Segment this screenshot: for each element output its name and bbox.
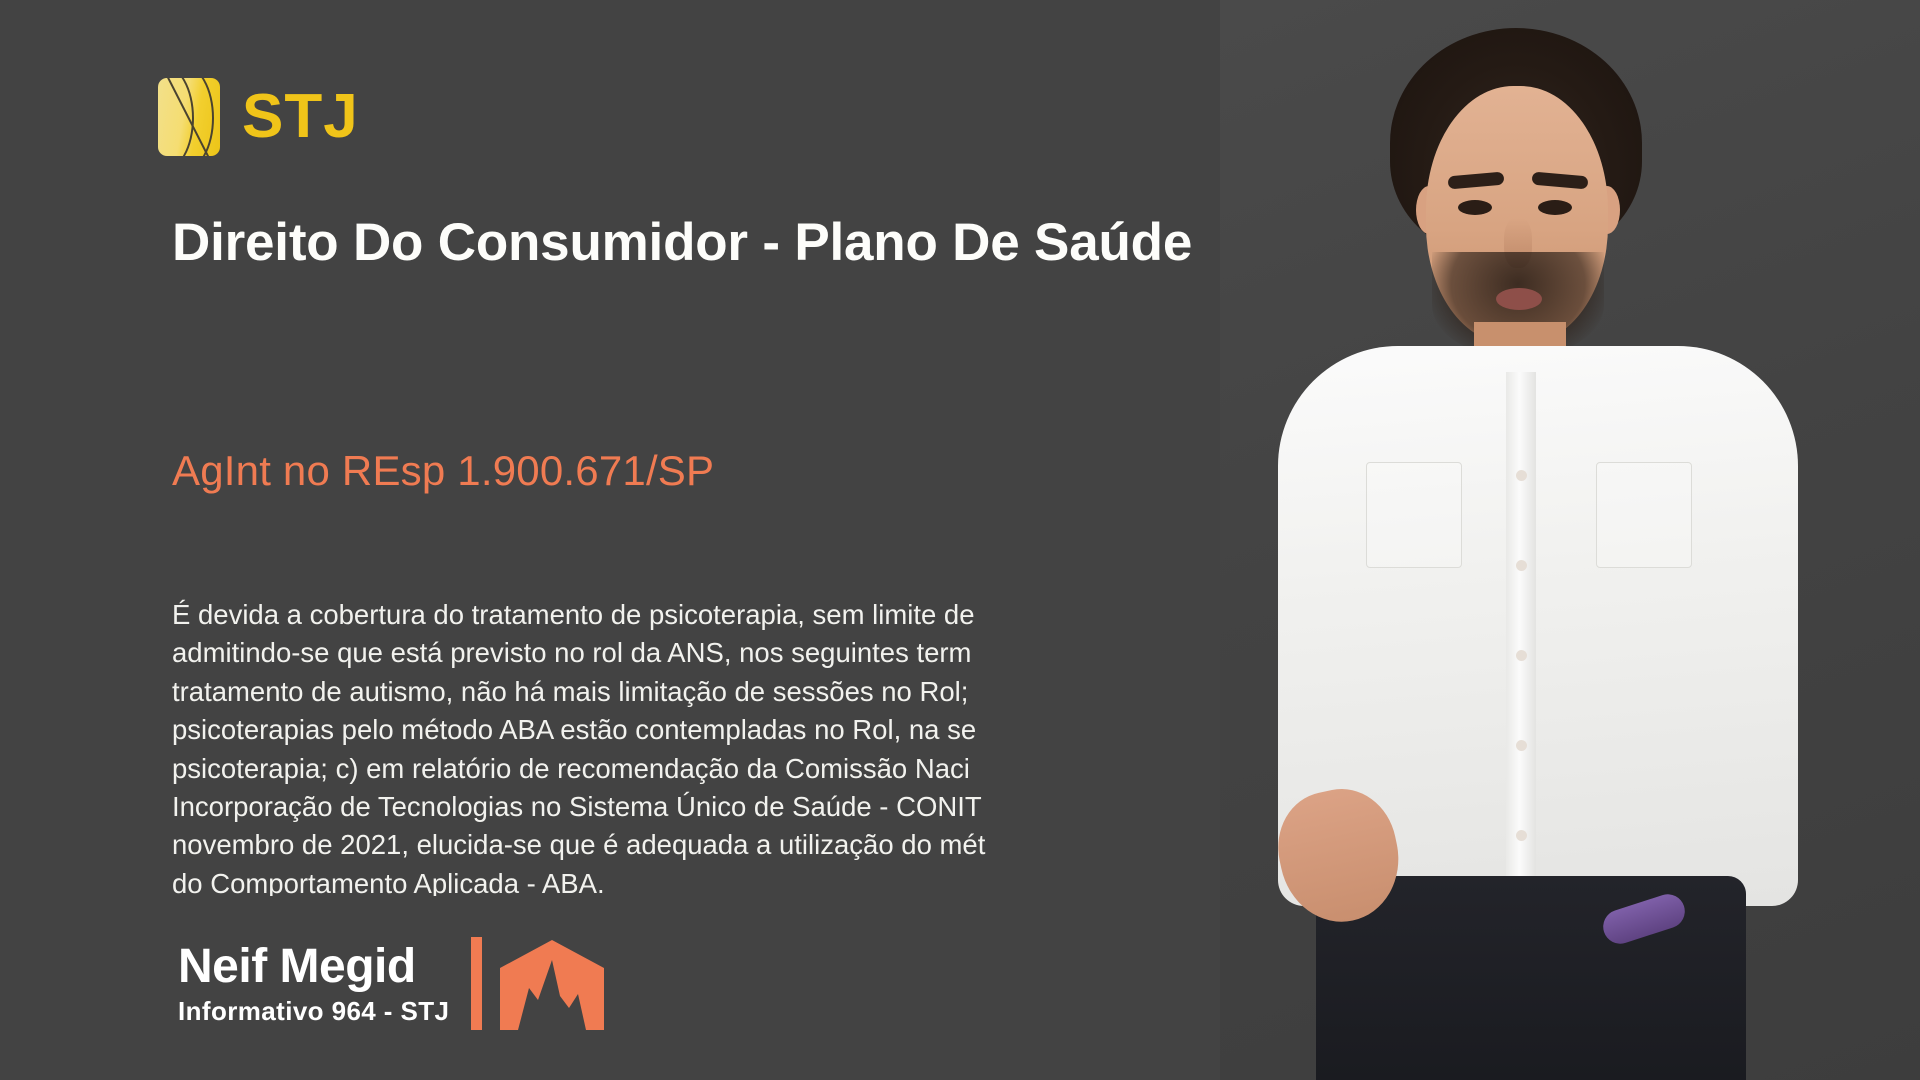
page-title: Direito Do Consumidor - Plano De Saúde bbox=[172, 212, 1302, 273]
summary-line: tratamento de autismo, não há mais limit… bbox=[172, 673, 1225, 711]
summary-line: psicoterapia; c) em relatório de recomen… bbox=[172, 750, 1225, 788]
brand-secondary-name: Informativo 964 - STJ bbox=[178, 998, 449, 1024]
summary-clip-region: É devida a cobertura do tratamento de ps… bbox=[0, 596, 1225, 896]
mountain-peak-icon bbox=[498, 938, 606, 1030]
case-number-label: AgInt no REsp 1.900.671/SP bbox=[172, 446, 1172, 496]
presenter-video-figure bbox=[1220, 0, 1920, 1080]
slide-canvas: STJ Direito Do Consumidor - Plano De Saú… bbox=[0, 0, 1920, 1080]
summary-line: do Comportamento Aplicada - ABA. bbox=[172, 865, 1225, 896]
summary-line: novembro de 2021, elucida-se que é adequ… bbox=[172, 826, 1225, 864]
brand-name-block: Neif Megid Informativo 964 - STJ bbox=[178, 943, 449, 1024]
stj-brand-lockup: STJ bbox=[158, 78, 359, 156]
stj-wordmark: STJ bbox=[242, 86, 359, 148]
vertical-rule-icon bbox=[471, 937, 482, 1030]
summary-line: psicoterapias pelo método ABA estão cont… bbox=[172, 711, 1225, 749]
summary-line: admitindo-se que está previsto no rol da… bbox=[172, 634, 1225, 672]
summary-line: É devida a cobertura do tratamento de ps… bbox=[172, 596, 1225, 634]
summary-paragraph: É devida a cobertura do tratamento de ps… bbox=[172, 596, 1225, 896]
summary-line: Incorporação de Tecnologias no Sistema Ú… bbox=[172, 788, 1225, 826]
footer-brand-lockup: Neif Megid Informativo 964 - STJ bbox=[178, 937, 606, 1030]
stj-book-mark-icon bbox=[158, 78, 220, 156]
brand-primary-name: Neif Megid bbox=[178, 943, 449, 991]
